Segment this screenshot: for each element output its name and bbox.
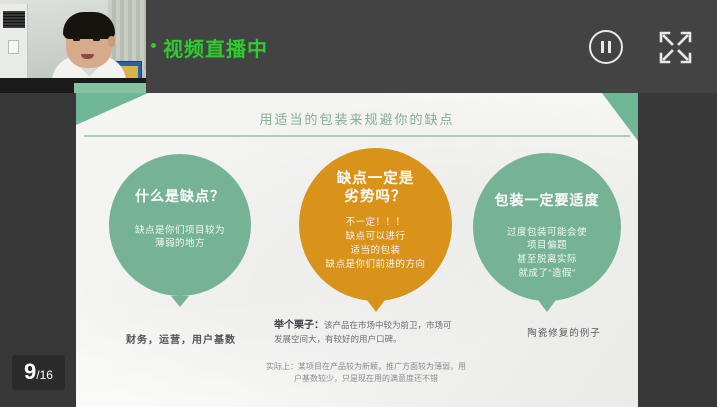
bubble-mid-title: 缺点一定是劣势吗？ bbox=[299, 170, 452, 206]
webcam-person-eye-left bbox=[73, 38, 80, 41]
bubble-mid-body: 不一定！！！缺点可以进行适当的包装缺点是你们前进的方向 bbox=[299, 216, 452, 271]
bubble-packaging-moderation[interactable]: 包装一定要适度 过度包装可能会使项目偏题甚至脱离实际就成了“造假” bbox=[473, 153, 621, 301]
pause-icon bbox=[589, 30, 623, 64]
page-current: 9 bbox=[24, 359, 36, 384]
webcam-person-ear bbox=[108, 36, 115, 47]
webcam-air-vent bbox=[3, 11, 25, 28]
webcam-person-eye-right bbox=[93, 38, 100, 41]
presenter-video-thumbnail[interactable] bbox=[0, 0, 146, 93]
bubble-right-title: 包装一定要适度 bbox=[473, 192, 621, 210]
bubble-left-title: 什么是缺点？ bbox=[109, 188, 251, 206]
live-player-root: 视频直播中 bbox=[0, 0, 717, 407]
fullscreen-icon bbox=[658, 30, 693, 65]
live-status-label: 视频直播中 bbox=[163, 33, 268, 62]
bubble-what-is-weakness[interactable]: 什么是缺点？ 缺点是你们项目较为薄弱的地方 bbox=[109, 154, 251, 296]
slide-title-rule bbox=[84, 135, 630, 137]
live-status-dot bbox=[151, 43, 156, 48]
slide-canvas[interactable]: 用适当的包装来规避你的缺点 什么是缺点？ 缺点是你们项目较为薄弱的地方 缺点一定… bbox=[76, 93, 638, 407]
caption-right: 陶瓷修复的例子 bbox=[494, 325, 634, 339]
webcam-wall-note bbox=[8, 40, 19, 54]
slide-title: 用适当的包装来规避你的缺点 bbox=[76, 109, 638, 128]
caption-left: 财务，运营，用户基数 bbox=[116, 331, 246, 346]
bubble-right-body: 过度包装可能会使项目偏题甚至脱离实际就成了“造假” bbox=[473, 226, 621, 281]
bubble-is-weakness-disadvantage[interactable]: 缺点一定是劣势吗？ 不一定！！！缺点可以进行适当的包装缺点是你们前进的方向 bbox=[299, 148, 452, 301]
caption-middle-label: 举个栗子： bbox=[274, 320, 324, 331]
bubble-mid-tail bbox=[367, 300, 385, 312]
webcam-person-hair bbox=[63, 12, 115, 39]
pause-button[interactable] bbox=[589, 30, 623, 64]
webcam-desk-highlight bbox=[74, 83, 146, 93]
page-total: 16 bbox=[40, 368, 53, 382]
caption-middle: 举个栗子：该产品在市场中较为前卫，市场可发展空间大，有较好的用户口碑。 bbox=[274, 318, 456, 346]
fullscreen-button[interactable] bbox=[658, 30, 693, 65]
page-indicator: 9/16 bbox=[12, 355, 65, 390]
bubble-left-body: 缺点是你们项目较为薄弱的地方 bbox=[109, 224, 251, 252]
bubble-right-tail bbox=[538, 300, 556, 312]
caption-bottom-note: 实际上：某项目在产品较为新颖，推广方面较为薄弱，用户基数较少，只是现在用的满意度… bbox=[266, 361, 466, 386]
bubble-left-tail bbox=[171, 296, 189, 307]
